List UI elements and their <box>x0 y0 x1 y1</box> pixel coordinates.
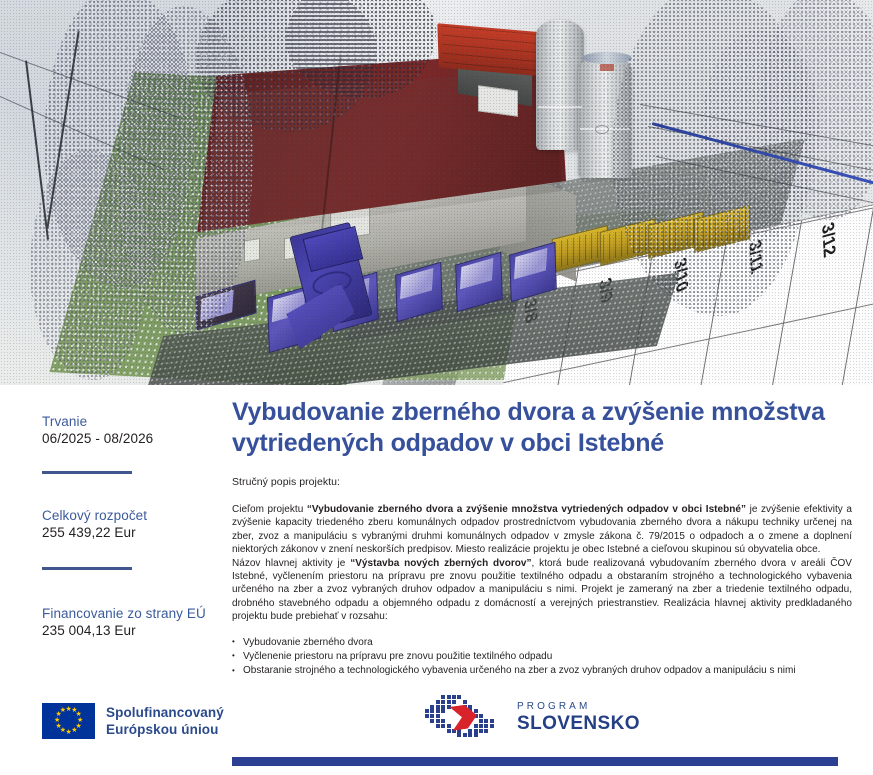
point-cloud-noise-overlay <box>0 0 873 385</box>
program-slovensko-logo: PROGRAM SLOVENSKO <box>425 695 640 739</box>
fact-total-budget-label: Celkový rozpočet <box>42 507 147 524</box>
activity-list-item: Vyčlenenie priestoru na prípravu pre zno… <box>232 650 852 664</box>
logo-pixel <box>479 724 483 728</box>
logo-pixel <box>441 724 445 728</box>
logo-pixel <box>425 709 429 713</box>
project-visualisation-image: 3/8 3/9 3/10 3/11 3/12 <box>0 0 873 385</box>
logo-pixel <box>436 724 440 728</box>
logo-pixel <box>452 695 456 699</box>
eu-logo-line1: Spolufinancovaný <box>106 704 224 721</box>
logo-pixel <box>436 700 440 704</box>
logo-pixel <box>479 729 483 733</box>
program-slovensko-bottom-text: SLOVENSKO <box>517 714 640 733</box>
page-title: Vybudovanie zberného dvora a zvýšenie mn… <box>232 397 852 459</box>
logo-pixel <box>447 695 451 699</box>
eu-logo-text: Spolufinancovaný Európskou úniou <box>106 704 224 738</box>
logo-pixel <box>457 733 461 737</box>
logo-pixel <box>441 695 445 699</box>
logo-pixel <box>468 705 472 709</box>
logo-pixel <box>474 733 478 737</box>
activity-bullet-list: Vybudovanie zberného dvoraVyčlenenie pri… <box>232 636 852 679</box>
eu-star-icon: ★ <box>71 727 77 734</box>
project-facts-sidebar: Trvanie 06/2025 - 08/2026 Celkový rozpoč… <box>0 385 230 775</box>
sidebar-divider <box>42 567 132 570</box>
text-run: Názov hlavnej aktivity je <box>232 558 350 569</box>
logo-pixel <box>452 700 456 704</box>
description-lead: Stručný popis projektu: <box>232 476 852 488</box>
logo-pixel <box>430 705 434 709</box>
emphasised-phrase: “Vybudovanie zberného dvora a zvýšenie m… <box>307 504 746 515</box>
logo-pixel <box>474 724 478 728</box>
logo-pixel <box>441 700 445 704</box>
eu-logo-line2: Európskou úniou <box>106 721 224 738</box>
logo-pixel <box>430 719 434 723</box>
project-description: Vybudovanie zberného dvora a zvýšenie mn… <box>232 385 852 678</box>
program-slovensko-wordmark: PROGRAM SLOVENSKO <box>517 702 640 733</box>
logo-pixel <box>463 733 467 737</box>
program-slovensko-top-text: PROGRAM <box>517 702 640 712</box>
fact-eu-financing-value: 235 004,13 Eur <box>42 622 206 640</box>
logo-pixel <box>479 714 483 718</box>
activity-list-item: Obstaranie strojného a technologického v… <box>232 664 852 678</box>
activity-list-item: Vybudovanie zberného dvora <box>232 636 852 650</box>
eu-cofunding-logo: ★★★★★★★★★★★★ Spolufinancovaný Európskou … <box>42 703 224 739</box>
fact-total-budget: Celkový rozpočet 255 439,22 Eur <box>42 507 147 542</box>
logo-pixel <box>447 700 451 704</box>
project-info-sheet: 3/8 3/9 3/10 3/11 3/12 <box>0 0 873 775</box>
logo-pixel <box>447 724 451 728</box>
logo-pixel <box>447 729 451 733</box>
logo-pixel <box>484 719 488 723</box>
description-paragraph-2: Názov hlavnej aktivity je “Výstavba nový… <box>232 557 852 624</box>
emphasised-phrase: “Výstavba nových zberných dvorov” <box>350 558 531 569</box>
logo-pixel <box>479 719 483 723</box>
program-slovensko-mark-icon <box>425 695 505 739</box>
fact-duration-label: Trvanie <box>42 413 153 430</box>
footer-blue-bar <box>232 757 838 766</box>
logo-pixel <box>474 709 478 713</box>
eu-flag-icon: ★★★★★★★★★★★★ <box>42 703 95 739</box>
logo-pixel <box>430 709 434 713</box>
logo-pixel <box>490 724 494 728</box>
description-paragraph-1: Cieľom projektu “Vybudovanie zberného dv… <box>232 503 852 557</box>
logo-pixel <box>484 729 488 733</box>
content-area: Trvanie 06/2025 - 08/2026 Celkový rozpoč… <box>0 385 873 775</box>
logo-pixel <box>436 709 440 713</box>
logo-pixel <box>457 695 461 699</box>
fact-duration: Trvanie 06/2025 - 08/2026 <box>42 413 153 448</box>
fact-duration-value: 06/2025 - 08/2026 <box>42 430 153 448</box>
logo-pixel <box>441 709 445 713</box>
logo-pixel <box>436 705 440 709</box>
logo-pixel <box>468 733 472 737</box>
logo-pixel <box>474 729 478 733</box>
logo-pixel <box>484 724 488 728</box>
logo-pixel <box>468 729 472 733</box>
fact-total-budget-value: 255 439,22 Eur <box>42 524 147 542</box>
logo-pixel <box>430 714 434 718</box>
fact-eu-financing-label: Financovanie zo strany EÚ <box>42 605 206 622</box>
sidebar-divider <box>42 471 132 474</box>
logo-pixel <box>447 705 451 709</box>
logo-pixel <box>425 714 429 718</box>
fact-eu-financing: Financovanie zo strany EÚ 235 004,13 Eur <box>42 605 206 640</box>
logo-pixel <box>441 705 445 709</box>
eu-star-icon: ★ <box>60 707 66 714</box>
text-run: Cieľom projektu <box>232 504 307 515</box>
logo-pixel <box>441 719 445 723</box>
logo-pixel <box>436 714 440 718</box>
logo-pixel <box>436 719 440 723</box>
eu-star-icon: ★ <box>66 729 72 736</box>
logo-pixel <box>490 719 494 723</box>
logo-pixel <box>463 700 467 704</box>
